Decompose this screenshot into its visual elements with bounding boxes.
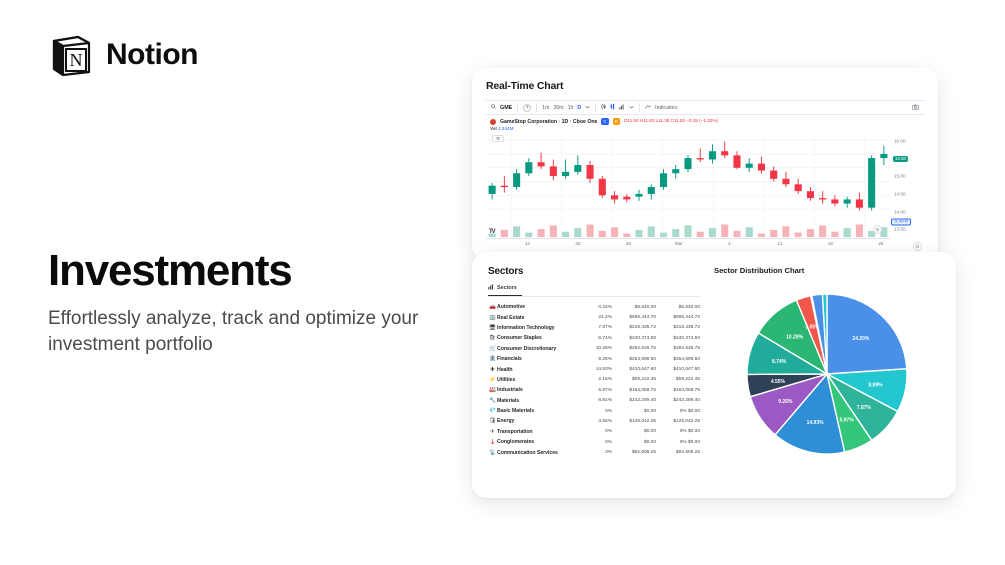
table-row[interactable]: 🛒Consumer Discretionary10.28%$282,626.75… [488,344,700,354]
camera-icon [912,104,919,112]
sector-name: Real Estate [497,315,586,321]
sector-value-2: $59,222.45 [656,377,700,382]
hero-block: Investments Effortlessly analyze, track … [48,248,468,357]
sector-value-2: 0% $0.00 [656,429,700,434]
sector-value-1: $0.00 [612,429,656,434]
interval-D[interactable]: D [577,105,581,111]
tab-sectors[interactable]: Sectors [488,284,522,296]
chevron-down-icon[interactable] [629,105,634,111]
sector-value-2: $216,435.72 [656,325,700,330]
time-tick: Mar [675,241,683,246]
sector-percent: 2.15% [586,377,612,382]
legend-volume: Vol 4.344M [486,125,924,131]
sector-value-2: $665,444.70 [656,315,700,320]
sector-value-1: $0.00 [612,440,656,445]
sector-percent: 0% [586,409,612,414]
pie-slice-label: 9.26% [778,399,793,405]
realtime-chart-card: Real-Time Chart GME + 1m 30m 1h D [472,68,938,260]
add-symbol-button[interactable]: + [518,101,536,114]
sector-percent: 8.81% [586,398,612,403]
time-tick: 20 [575,241,580,246]
bank-icon: 🏦 [488,356,497,362]
sector-value-1: $216,435.72 [612,325,656,330]
snapshot-button[interactable] [907,101,924,114]
sector-name: Health [497,367,586,373]
table-row[interactable]: 🏢Real Estate24.2%$665,444.70$665,444.70 [488,312,700,322]
legend-volume-value: 4.344M [498,126,513,131]
sector-value-2: $240,374.50 [656,336,700,341]
pie-panel: Sector Distribution Chart 24.20%8.89%7.8… [714,266,940,484]
price-tick: 14.00 [894,209,906,214]
car-icon: 🚗 [488,304,497,310]
sector-value-1: $410,647.60 [612,367,656,372]
pie-slice-label: 10.28% [786,334,804,340]
time-tick: 18 [828,241,833,246]
sector-name: Information Technology [497,325,586,331]
sector-value-1: $59,222.45 [612,377,656,382]
factory-icon: 🏭 [488,387,497,393]
table-row[interactable]: ✚Health14.93%$410,647.60$410,647.60 [488,364,700,374]
sectors-card: Sectors Sectors 🚗Automotive0.24%$6,640.0… [472,252,956,498]
plane-icon: ✈ [488,429,497,435]
candlestick-style-icon[interactable] [601,103,606,112]
sector-value-1: $82,606.25 [612,450,656,455]
table-row[interactable]: 🗼Conglomerates0%$0.000% $0.00 [488,437,700,447]
last-price-tag: 15.50 [893,156,908,162]
brand-name: Notion [106,38,198,72]
sector-percent: 7.87% [586,325,612,330]
pie-chart-title: Sector Distribution Chart [714,266,940,275]
sector-percent: 0.24% [586,305,612,310]
sector-value-2: $242,289.40 [656,398,700,403]
plot-scroll-button[interactable]: ⊙ [873,225,882,234]
monitor-icon: 🖥 [488,325,497,331]
chart-settings-button[interactable]: ⚙ [492,135,504,142]
page-title: Investments [48,248,468,294]
sector-value-2: $282,626.75 [656,346,700,351]
symbol-search[interactable]: GME [486,101,517,114]
pie-slice-label: 14.93% [807,420,825,426]
sector-value-2: $6,640.00 [656,305,700,310]
sector-name: Energy [497,418,586,424]
bid-ask-tag: 11.40/-M [891,218,911,225]
sector-value-1: $665,444.70 [612,315,656,320]
building-icon: 🏢 [488,315,497,321]
sectors-title: Sectors [488,266,700,277]
pie-slice-label: 8.74% [772,359,787,365]
table-row[interactable]: 🛍Consumer Staples8.74%$240,374.50$240,37… [488,333,700,343]
table-row[interactable]: 🏦Financials9.26%$254,699.50$254,699.50 [488,354,700,364]
cross-icon: ✚ [488,367,497,373]
sector-percent: 0% [586,440,612,445]
oil-icon: 🛢 [488,418,497,424]
sector-percent: 24.2% [586,315,612,320]
sector-value-1: $164,059.75 [612,388,656,393]
candlestick-plot[interactable] [486,132,890,238]
sector-name: Utilities [497,377,586,383]
price-tick: 16.00 [894,139,906,144]
table-row[interactable]: 🏭Industrials5.97%$164,059.75$164,059.75 [488,385,700,395]
indicators-button[interactable]: Indicators [640,101,683,114]
interval-group[interactable]: 1m 30m 1h D [537,101,595,114]
sector-value-2: $82,606.25 [656,450,700,455]
table-row[interactable]: 🛢Energy4.55%$125,042.25$125,042.25 [488,416,700,426]
indicators-chart-icon[interactable] [619,104,625,112]
axis-reset-button[interactable]: ⊙ [913,242,922,251]
svg-text:N: N [70,50,83,70]
antenna-icon: 📡 [488,450,497,456]
time-tick: 4 [728,241,731,246]
sector-name: Industrials [497,387,586,393]
sectors-tab-row: Sectors [488,284,700,297]
time-axis[interactable]: 122026Mar4111825 [486,238,890,250]
notion-logo-icon: N [48,32,94,78]
sector-value-2: $164,059.75 [656,388,700,393]
table-row[interactable]: 🖥Information Technology7.87%$216,435.72$… [488,323,700,333]
sector-name: Transportation [497,429,586,435]
bolt-icon: ⚡ [488,377,497,383]
table-row[interactable]: 🔧Materials8.81%$242,289.40$242,289.40 [488,396,700,406]
chart-legend: GameStop Corporation · 1D · Cboe One C D… [486,115,924,125]
page-root: N Notion Investments Effortlessly analyz… [0,0,1005,565]
interval-30m[interactable]: 30m [554,105,564,111]
sector-value-2: $125,042.25 [656,419,700,424]
table-row[interactable]: 🚗Automotive0.24%$6,640.00$6,640.00 [488,302,700,312]
chevron-down-icon[interactable] [585,105,590,111]
sector-percent: 14.93% [586,367,612,372]
tab-sectors-label: Sectors [497,285,517,291]
price-tick: 13.50 [894,227,906,232]
brand-lockup: N Notion [48,32,198,78]
sector-value-2: $254,699.50 [656,357,700,362]
sector-value-1: $6,640.00 [612,305,656,310]
axis-divider [486,238,890,239]
pie-slice[interactable] [827,294,907,374]
interval-1h[interactable]: 1h [568,105,574,111]
gem-icon: 💎 [488,408,497,414]
time-tick: 11 [778,241,783,246]
legend-volume-label: Vol [490,126,497,131]
sector-name: Basic Materials [497,408,586,414]
plus-circle-icon: + [523,104,531,112]
sector-name: Materials [497,398,586,404]
price-tick: 14.50 [894,192,906,197]
pie-slice-label: 8.89% [868,382,883,388]
sector-value-1: $240,374.50 [612,336,656,341]
sector-name: Conglomerates [497,439,586,445]
bar-style-icon[interactable] [610,103,615,112]
sector-percent: 4.55% [586,419,612,424]
sector-name: Consumer Staples [497,335,586,341]
sector-percent: 3% [586,450,612,455]
sector-value-2: 0% $0.00 [656,440,700,445]
chart-toolbar: GME + 1m 30m 1h D [486,100,924,115]
sector-value-2: 0% $0.00 [656,409,700,414]
tools-icon: 🔧 [488,398,497,404]
sector-name: Automotive [497,304,586,310]
gamestop-logo-icon [490,119,496,125]
pie-slice-label: 4.55% [771,379,786,385]
indicators-label: Indicators [655,105,678,111]
indicators-icon [645,104,651,112]
time-tick: 26 [626,241,631,246]
pie-slice-label: 24.20% [852,336,870,342]
page-subtitle: Effortlessly analyze, track and optimize… [48,306,468,357]
sector-percent: 5.97% [586,388,612,393]
pie-chart[interactable]: 24.20%8.89%7.87%5.97%14.93%9.26%4.55%8.7… [714,279,940,464]
interval-1m[interactable]: 1m [542,105,549,111]
table-row[interactable]: ⚡Utilities2.15%$59,222.45$59,222.45 [488,375,700,385]
sector-value-2: $410,647.60 [656,367,700,372]
table-row[interactable]: ✈Transportation0%$0.000% $0.00 [488,427,700,437]
sector-percent: 0% [586,429,612,434]
chart-card-title: Real-Time Chart [486,80,924,92]
search-icon [491,104,496,111]
chart-icon [488,284,494,292]
legend-badge-d: D [613,118,620,125]
bag-icon: 🛍 [488,335,497,341]
sector-list: 🚗Automotive0.24%$6,640.00$6,640.00🏢Real … [488,302,700,458]
sector-value-1: $254,699.50 [612,357,656,362]
legend-ohlc-values: O11.50 H11.83 L11.38 C11.53 −0.15 (−1.32… [624,119,718,124]
legend-badge-c: C [601,118,608,125]
cart-icon: 🛒 [488,346,497,352]
sector-percent: 8.74% [586,336,612,341]
table-row[interactable]: 📡Communication Services3%$82,606.25$82,6… [488,447,700,457]
table-row[interactable]: 💎Basic Materials0%$0.000% $0.00 [488,406,700,416]
price-axis[interactable]: 16.0015.5015.0014.5014.0013.5015.5011.40… [890,132,924,238]
time-tick: 25 [878,241,883,246]
pie-slice-label: 5.97% [840,418,855,424]
sector-value-1: $0.00 [612,409,656,414]
sector-value-1: $125,042.25 [612,419,656,424]
candlestick-plot-wrapper: 16.0015.5015.0014.5014.0013.5015.5011.40… [486,132,924,250]
legend-symbol-title: GameStop Corporation · 1D · Cboe One [500,119,597,125]
sector-name: Financials [497,356,586,362]
sector-name: Consumer Discretionary [497,346,586,352]
sector-value-1: $282,626.75 [612,346,656,351]
price-tick: 15.00 [894,174,906,179]
tradingview-logo-icon: TV [489,229,495,235]
sector-percent: 9.26% [586,357,612,362]
sector-value-1: $242,289.40 [612,398,656,403]
sectors-panel: Sectors Sectors 🚗Automotive0.24%$6,640.0… [488,266,700,484]
sector-percent: 10.28% [586,346,612,351]
sector-name: Communication Services [497,450,586,456]
chart-style-group[interactable] [596,101,639,114]
pie-slice-label: 7.87% [857,405,872,411]
tower-icon: 🗼 [488,439,497,445]
symbol-label: GME [500,105,512,111]
time-tick: 12 [525,241,530,246]
